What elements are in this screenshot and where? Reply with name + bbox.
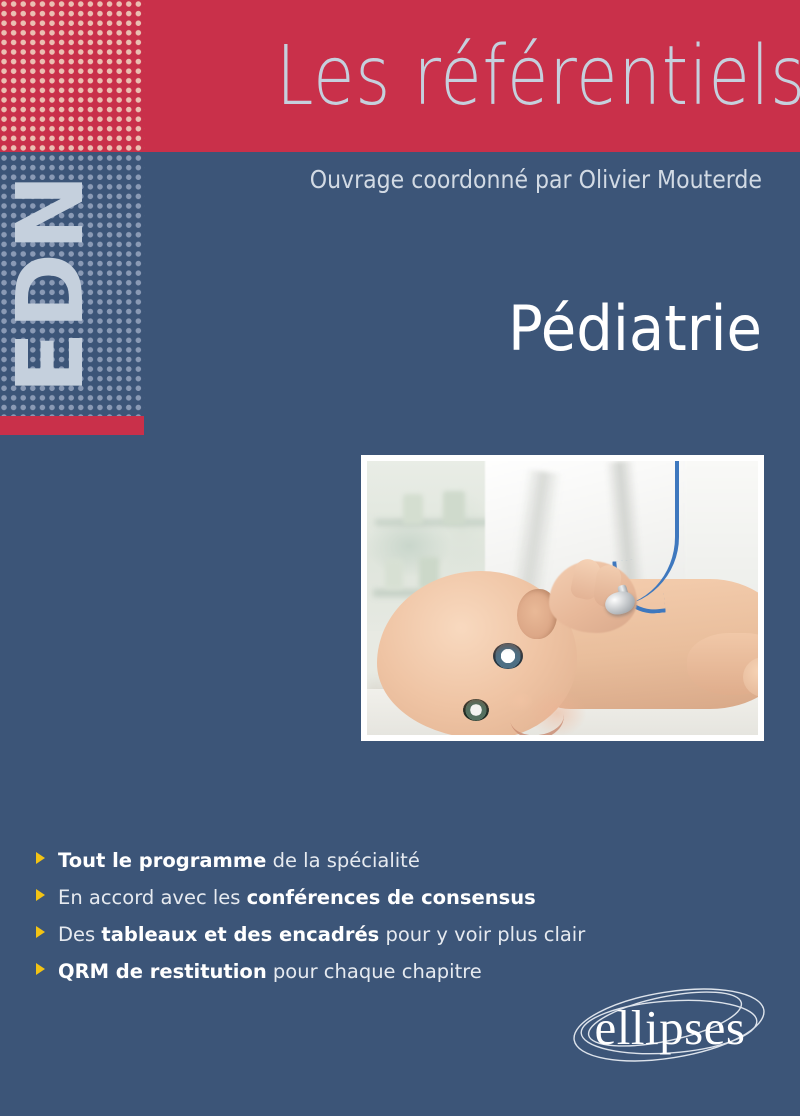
list-item: Des tableaux et des encadrés pour y voir… xyxy=(36,924,656,946)
list-item-text: En accord avec les conférences de consen… xyxy=(58,887,536,909)
list-item-text: QRM de restitution pour chaque chapitre xyxy=(58,961,482,983)
publisher-logo: ellipses xyxy=(565,975,775,1080)
triangle-right-icon xyxy=(36,963,45,975)
jar-decor xyxy=(403,494,423,524)
jar-decor xyxy=(443,491,465,525)
baby-eye xyxy=(493,643,523,669)
list-item-bold: conférences de consensus xyxy=(247,886,536,909)
jar-decor xyxy=(385,559,403,589)
triangle-right-icon xyxy=(36,926,45,938)
cover-photo-frame xyxy=(361,455,764,741)
coordinator-credit: Ouvrage coordonné par Olivier Mouterde xyxy=(256,165,762,194)
book-cover: Les référentiels EDN Ouvrage coordonné p… xyxy=(0,0,800,1116)
baby-nose xyxy=(507,693,533,711)
ellipse-rings-icon xyxy=(565,975,775,1080)
collection-tag-edn: EDN xyxy=(0,178,155,388)
list-item: QRM de restitution pour chaque chapitre xyxy=(36,961,656,983)
list-item-lead: Des xyxy=(58,923,101,946)
list-item-text: Tout le programme de la spécialité xyxy=(58,850,420,872)
list-item: En accord avec les conférences de consen… xyxy=(36,887,656,909)
triangle-right-icon xyxy=(36,852,45,864)
series-title: Les référentiels xyxy=(276,36,768,118)
feature-list: Tout le programme de la spécialité En ac… xyxy=(36,850,656,998)
list-item-bold: QRM de restitution xyxy=(58,960,267,983)
subject-title: Pédiatrie xyxy=(286,298,762,360)
shelf-decor xyxy=(375,519,493,526)
cover-photo xyxy=(367,461,758,735)
dot-pattern-red xyxy=(0,0,145,152)
accent-red-bar xyxy=(0,416,144,435)
list-item: Tout le programme de la spécialité xyxy=(36,850,656,872)
list-item-bold: tableaux et des encadrés xyxy=(101,923,379,946)
list-item-lead: En accord avec les xyxy=(58,886,247,909)
triangle-right-icon xyxy=(36,889,45,901)
list-item-bold: Tout le programme xyxy=(58,849,266,872)
list-item-rest: de la spécialité xyxy=(266,849,419,872)
list-item-text: Des tableaux et des encadrés pour y voir… xyxy=(58,924,585,946)
list-item-rest: pour y voir plus clair xyxy=(379,923,585,946)
list-item-rest: pour chaque chapitre xyxy=(267,960,482,983)
baby-eye xyxy=(463,699,489,721)
